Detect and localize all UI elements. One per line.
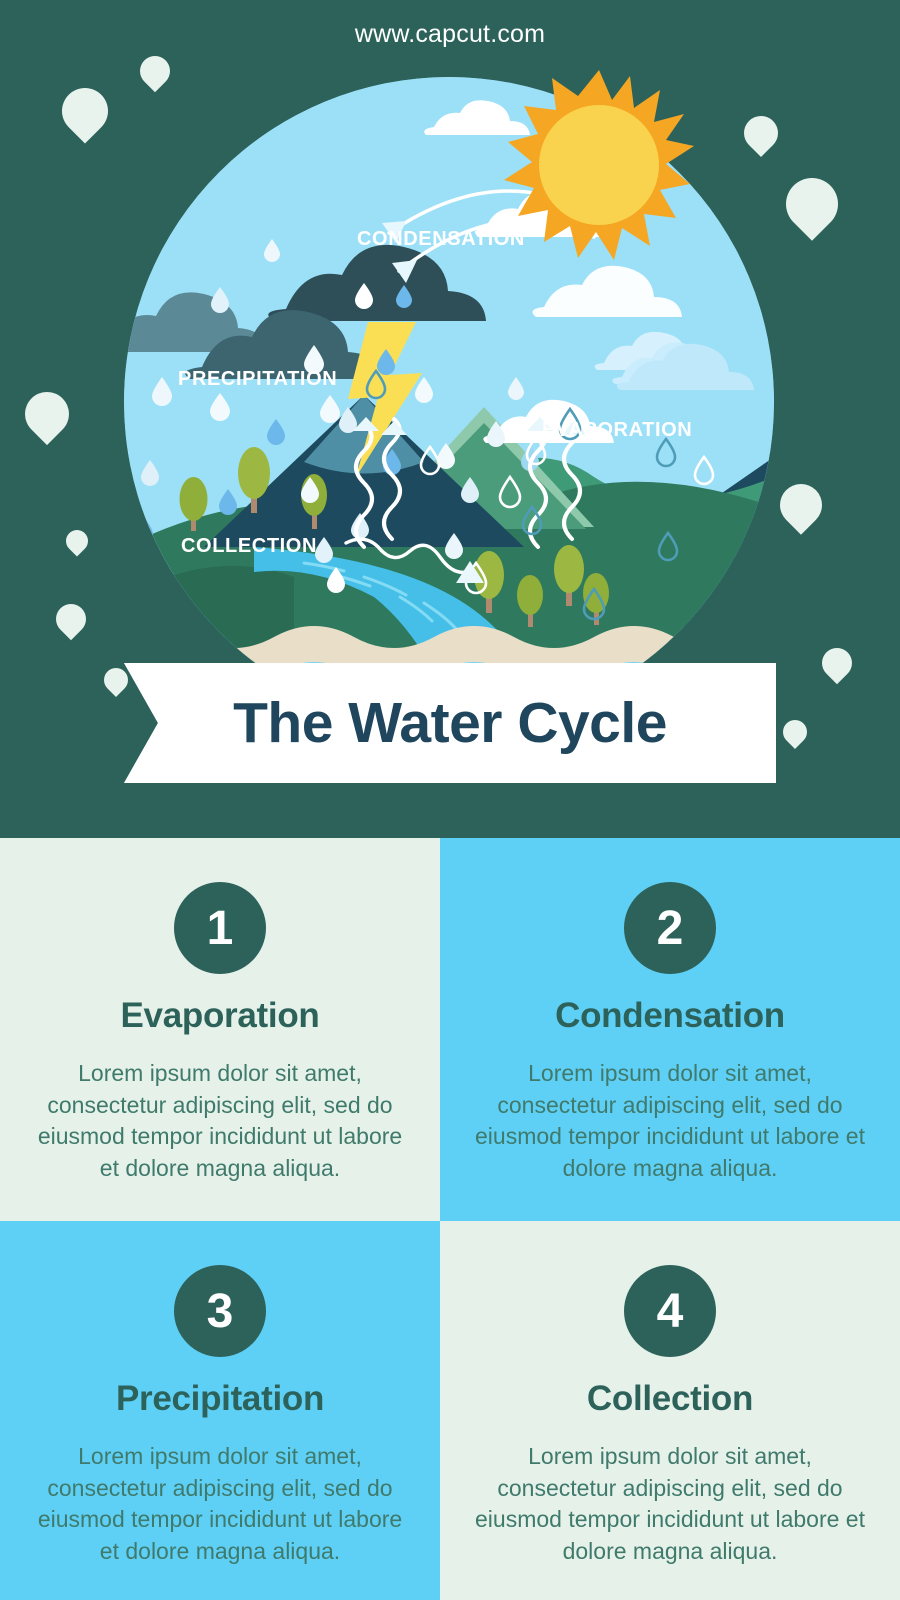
step-card-precipitation[interactable]: 3 Precipitation Lorem ipsum dolor sit am… xyxy=(0,1221,440,1600)
decorative-drop-icon xyxy=(50,598,92,640)
step-title: Precipitation xyxy=(28,1379,412,1419)
label-evaporation: EVAPORATION xyxy=(542,419,692,442)
title-ribbon: The Water Cycle xyxy=(124,663,776,783)
step-body: Lorem ipsum dolor sit amet, consectetur … xyxy=(28,1058,412,1185)
step-card-collection[interactable]: 4 Collection Lorem ipsum dolor sit amet,… xyxy=(440,1221,900,1600)
decorative-drop-icon xyxy=(816,642,858,684)
decorative-drop-icon xyxy=(771,475,830,534)
infographic-page: www.capcut.com xyxy=(0,0,900,1600)
decorative-drop-icon xyxy=(52,78,117,143)
label-condensation: CONDENSATION xyxy=(357,228,525,251)
step-body: Lorem ipsum dolor sit amet, consectetur … xyxy=(28,1441,412,1568)
decorative-drop-icon xyxy=(778,715,812,749)
step-body: Lorem ipsum dolor sit amet, consectetur … xyxy=(468,1058,872,1185)
label-precipitation: PRECIPITATION xyxy=(178,368,337,391)
decorative-drop-icon xyxy=(61,525,92,556)
sun-icon xyxy=(504,70,694,260)
steps-grid: 1 Evaporation Lorem ipsum dolor sit amet… xyxy=(0,838,900,1600)
step-card-condensation[interactable]: 2 Condensation Lorem ipsum dolor sit ame… xyxy=(440,838,900,1221)
decorative-drop-icon xyxy=(16,383,78,445)
hero-section: www.capcut.com xyxy=(0,0,900,838)
label-collection: COLLECTION xyxy=(181,535,317,558)
site-url-text: www.capcut.com xyxy=(0,20,900,49)
step-number-badge: 4 xyxy=(624,1265,716,1357)
step-card-evaporation[interactable]: 1 Evaporation Lorem ipsum dolor sit amet… xyxy=(0,838,440,1221)
step-title: Condensation xyxy=(468,996,872,1036)
step-number-badge: 2 xyxy=(624,882,716,974)
step-title: Collection xyxy=(468,1379,872,1419)
step-body: Lorem ipsum dolor sit amet, consectetur … xyxy=(468,1441,872,1568)
step-number-badge: 1 xyxy=(174,882,266,974)
step-title: Evaporation xyxy=(28,996,412,1036)
step-number-badge: 3 xyxy=(174,1265,266,1357)
decorative-drop-icon xyxy=(775,167,849,241)
banner-title: The Water Cycle xyxy=(124,663,776,783)
